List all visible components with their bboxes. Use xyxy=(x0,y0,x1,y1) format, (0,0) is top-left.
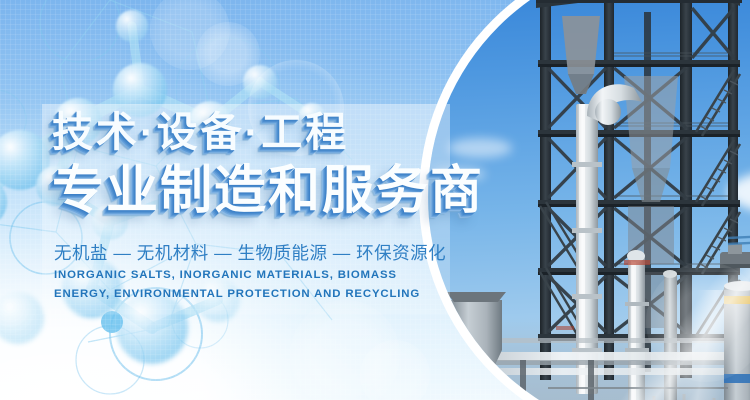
hero-banner: 技术·设备·工程 专业制造和服务商 无机盐 — 无机材料 — 生物质能源 — 环… xyxy=(0,0,750,400)
subtitle-english: INORGANIC SALTS, INORGANIC MATERIALS, BI… xyxy=(54,266,444,304)
headline-line-2: 专业制造和服务商 xyxy=(52,165,472,217)
subtitle-chinese: 无机盐 — 无机材料 — 生物质能源 — 环保资源化 xyxy=(54,240,446,265)
headline-line-1: 技术·设备·工程 xyxy=(52,112,472,153)
headline-group: 技术·设备·工程 专业制造和服务商 xyxy=(52,112,472,217)
